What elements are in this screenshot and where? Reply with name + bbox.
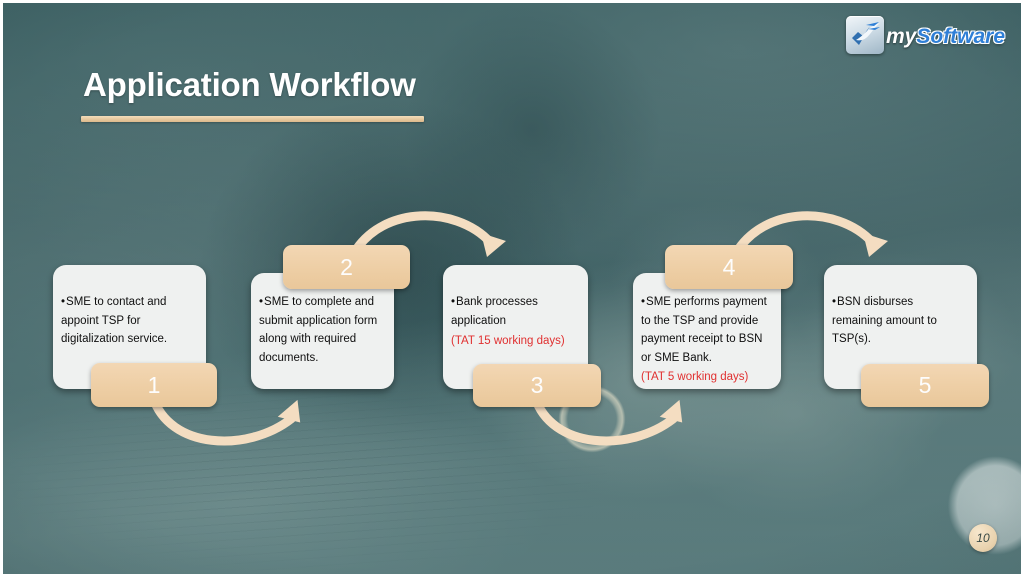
step-number-1: 1 (91, 363, 217, 407)
step-number-3: 3 (473, 364, 601, 407)
step-number-5: 5 (861, 364, 989, 407)
step-2-line-1: SME to complete and (259, 293, 385, 312)
step-3-line-1: Bank processes (451, 293, 579, 312)
step-4-line-4: or SME Bank. (641, 349, 772, 368)
step-card-2[interactable]: SME to complete and submit application f… (251, 273, 394, 389)
step-1-line-2: appoint TSP for (61, 312, 197, 331)
step-5-line-2: remaining amount to (832, 312, 968, 331)
slide: Application Workflow mySoftware 10 (0, 0, 1024, 577)
step-3-tat-note: (TAT 15 working days) (451, 330, 579, 351)
step-2-line-2: submit application form (259, 312, 385, 331)
step-5-line-1: BSN disburses (832, 293, 968, 312)
workflow-diagram: SME to contact and appoint TSP for digit… (3, 3, 1021, 574)
step-4-tat-note: (TAT 5 working days) (641, 368, 772, 387)
step-4-line-1: SME performs payment (641, 293, 772, 312)
step-1-line-1: SME to contact and (61, 293, 197, 312)
step-1-line-3: digitalization service. (61, 330, 197, 349)
step-5-line-3: TSP(s). (832, 330, 968, 349)
step-4-line-3: payment receipt to BSN (641, 330, 772, 349)
step-4-line-2: to the TSP and provide (641, 312, 772, 331)
step-3-line-2: application (451, 312, 579, 331)
step-card-4[interactable]: SME performs payment to the TSP and prov… (633, 273, 781, 389)
step-number-4: 4 (665, 245, 793, 289)
step-number-2: 2 (283, 245, 410, 289)
step-2-line-4: documents. (259, 349, 385, 368)
step-2-line-3: along with required (259, 330, 385, 349)
